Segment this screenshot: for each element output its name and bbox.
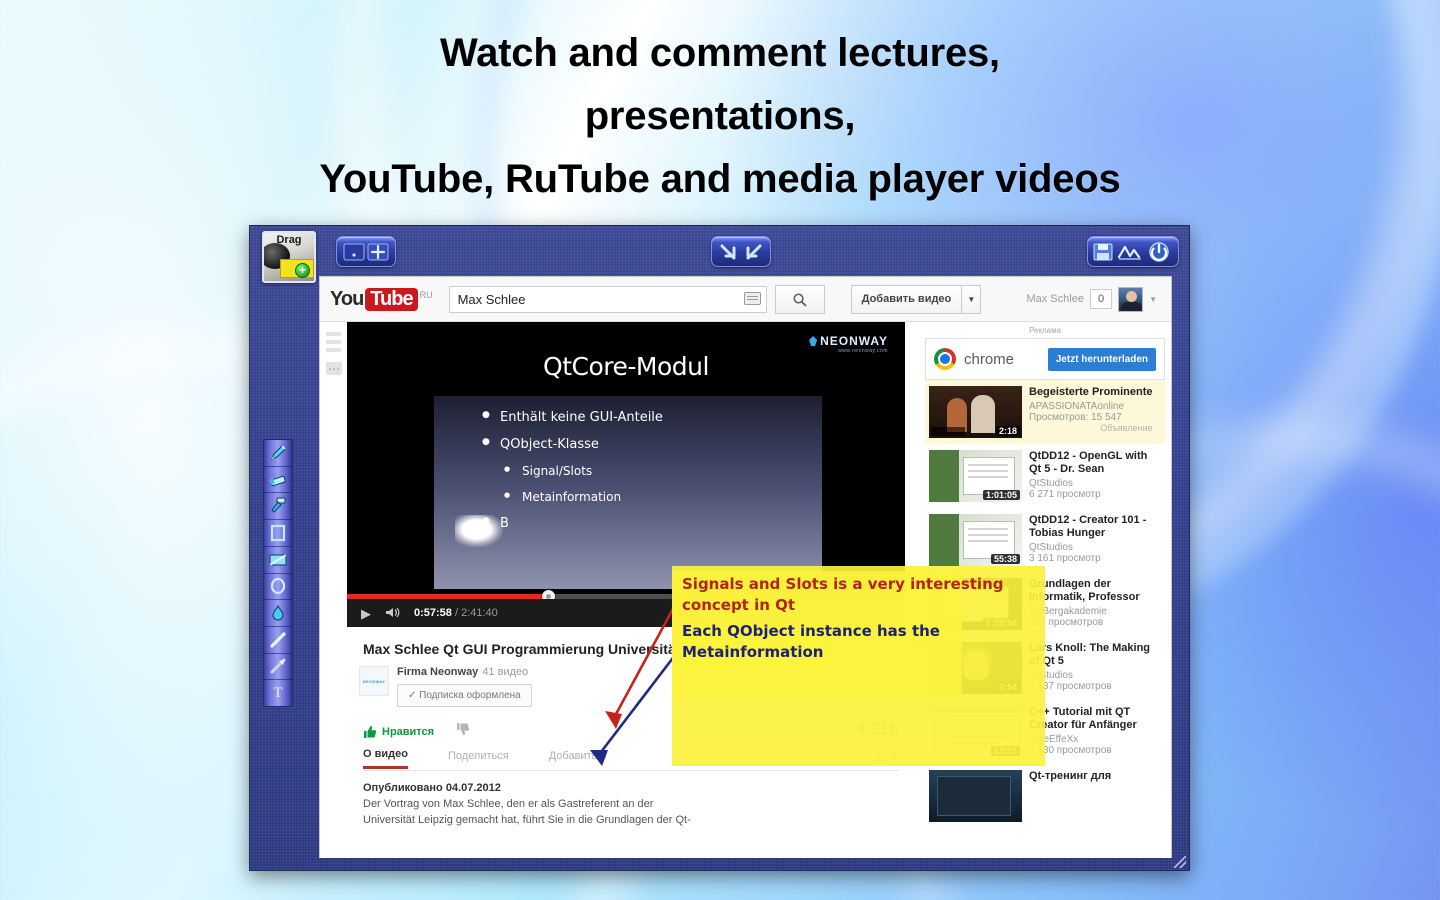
chrome-download-button[interactable]: Jetzt herunterladen xyxy=(1048,348,1156,371)
uploader-avatar[interactable]: NEONWAY xyxy=(359,666,389,696)
published-date: Опубликовано 04.07.2012 xyxy=(363,782,899,794)
highlighter-tool[interactable] xyxy=(264,467,292,494)
arrow-icon xyxy=(268,656,288,676)
chrome-ad[interactable]: chrome Jetzt herunterladen xyxy=(925,338,1165,380)
duration-badge: 13:53 xyxy=(991,746,1020,756)
list-item-title: Qt-тренинг для xyxy=(1029,770,1111,783)
list-item-views: Просмотров: 15 547 xyxy=(1029,412,1152,423)
uploader-row: NEONWAY Firma Neonway41 видео ✓ Подписка… xyxy=(359,666,915,707)
list-item-title: C++ Tutorial mit QT Creator für Anfänger xyxy=(1029,706,1161,732)
slide-panel: Enthält keine GUI-Anteile QObject-Klasse… xyxy=(434,396,822,589)
droplet-icon xyxy=(268,603,288,623)
uploader-name[interactable]: Firma Neonway xyxy=(397,666,478,678)
uploader-video-count: 41 видео xyxy=(482,666,528,678)
pencil-icon xyxy=(268,443,288,463)
arrow-tool[interactable] xyxy=(264,654,292,681)
youtube-body: NEONWAY www.neonway.com QtCore-Modul Ent… xyxy=(320,322,1171,858)
list-item-channel: QtStudios xyxy=(1029,670,1161,681)
list-item[interactable]: 2:54 Lars Knoll: The Making of Qt 5 QtSt… xyxy=(925,636,1165,700)
user-area: Max Schlee 0 ▼ xyxy=(1026,287,1161,312)
list-item[interactable]: Qt-тренинг для xyxy=(925,764,1165,828)
filled-rectangle-tool[interactable] xyxy=(264,547,292,574)
engagement-row: Нравится 4 216 xyxy=(363,719,899,739)
line-icon xyxy=(268,630,288,650)
list-item-channel: APASSIONATAonline xyxy=(1029,401,1152,412)
text-tool[interactable]: T xyxy=(264,680,292,706)
thumbnail xyxy=(929,770,1022,822)
thumbnail: 2:54 xyxy=(929,642,1022,694)
list-item-views: 6 271 просмотр xyxy=(1029,489,1161,500)
description-line-1: Der Vortrag von Max Schlee, den er als G… xyxy=(363,796,899,812)
video-player[interactable]: NEONWAY www.neonway.com QtCore-Modul Ent… xyxy=(347,322,905,627)
related-sidebar: Реклама chrome Jetzt herunterladen 2:18 … xyxy=(921,322,1171,858)
main-column: NEONWAY www.neonway.com QtCore-Modul Ent… xyxy=(347,322,921,858)
flag-icon[interactable]: ⚑ xyxy=(890,753,899,764)
list-item[interactable]: 1:25:50 Grundlagen der Informatik, Profe… xyxy=(925,572,1165,636)
view-count: 4 216 xyxy=(856,719,899,739)
list-item-title: QtDD12 - OpenGL with Qt 5 - Dr. Sean xyxy=(1029,450,1161,476)
pencil-tool[interactable] xyxy=(264,440,292,467)
list-item[interactable]: 1:01:05 QtDD12 - OpenGL with Qt 5 - Dr. … xyxy=(925,444,1165,508)
thumbnail: 2:18 xyxy=(929,386,1022,438)
list-item[interactable]: 2:18 Begeisterte Prominente APASSIONATAo… xyxy=(925,380,1165,444)
drag-thumbnail[interactable]: Drag + xyxy=(262,231,316,283)
collapse-arrows-icon xyxy=(718,242,764,262)
youtube-logo-tube: Tube xyxy=(365,288,417,311)
chevron-down-icon[interactable]: ▼ xyxy=(1149,295,1157,304)
tab-add-to[interactable]: Добавить в xyxy=(549,750,607,768)
neonway-name: NEONWAY xyxy=(820,334,888,348)
drag-label: Drag xyxy=(264,234,314,246)
video-frame: NEONWAY www.neonway.com QtCore-Modul Ent… xyxy=(347,322,905,627)
statistics-icon[interactable]: ▥ xyxy=(876,753,885,764)
grid-icon[interactable] xyxy=(326,362,342,375)
droplet-tool[interactable] xyxy=(264,600,292,627)
right-toolbar-icons xyxy=(1091,241,1175,263)
list-item-meta: Begeisterte Prominente APASSIONATAonline… xyxy=(1029,386,1152,438)
list-item-views: 3 161 просмотр xyxy=(1029,553,1161,564)
thumbnail: 55:38 xyxy=(929,514,1022,566)
application-window: Drag + xyxy=(249,225,1190,871)
fit-window-button[interactable] xyxy=(711,236,771,267)
add-icon: + xyxy=(295,263,310,278)
avatar[interactable] xyxy=(1118,287,1143,312)
list-item-views: 2 537 просмотров xyxy=(1029,681,1161,692)
slide-bullet: Metainformation xyxy=(504,490,663,504)
rail-bar xyxy=(326,332,341,336)
neonway-logo: NEONWAY xyxy=(809,334,888,348)
rail-bar xyxy=(326,340,341,344)
subscribe-button[interactable]: ✓ Подписка оформлена xyxy=(397,684,532,707)
duration-badge: 1:25:50 xyxy=(983,618,1020,628)
keyboard-icon[interactable] xyxy=(744,292,761,305)
list-item-channel: QtStudios xyxy=(1029,542,1161,553)
page-title-line-3: YouTube, RuTube and media player videos xyxy=(0,148,1440,211)
time-display: 0:57:58 / 2:41:40 xyxy=(414,607,498,619)
page-title-line-1: Watch and comment lectures, xyxy=(0,22,1440,85)
youtube-logo[interactable]: You Tube RU xyxy=(330,288,433,311)
thumbnail: 1:01:05 xyxy=(929,450,1022,502)
slide-bullet: B xyxy=(482,516,663,531)
list-item-meta: QtDD12 - OpenGL with Qt 5 - Dr. Sean QtS… xyxy=(1029,450,1161,502)
duration-badge: 2:18 xyxy=(996,426,1020,436)
volume-button[interactable] xyxy=(385,606,400,621)
list-item-meta: QtDD12 - Creator 101 - Tobias Hunger QtS… xyxy=(1029,514,1161,566)
search-wrapper xyxy=(449,286,767,313)
avatar-face xyxy=(1126,291,1137,302)
settings-icon xyxy=(1119,247,1141,259)
search-button[interactable] xyxy=(775,285,825,314)
filled-rectangle-icon xyxy=(268,550,288,570)
video-title: Max Schlee Qt GUI Programmierung Univers… xyxy=(363,641,915,657)
volume-icon xyxy=(385,606,400,619)
video-description: Опубликовано 04.07.2012 Der Vortrag von … xyxy=(363,782,899,828)
list-item-title: Grundlagen der Informatik, Professor xyxy=(1029,578,1161,604)
thumbnail: 13:53 xyxy=(929,706,1022,758)
duration-badge: 55:38 xyxy=(991,554,1020,564)
upload-group: Добавить видео ▼ xyxy=(851,285,982,314)
ellipse-icon xyxy=(268,576,288,596)
tab-about[interactable]: О видео xyxy=(363,748,408,769)
list-item-title: Begeisterte Prominente xyxy=(1029,386,1152,399)
neonway-mark xyxy=(809,336,817,346)
list-item-meta: Grundlagen der Informatik, Professor TUB… xyxy=(1029,578,1161,630)
upload-video-button[interactable]: Добавить видео xyxy=(851,285,962,314)
list-item[interactable]: 13:53 C++ Tutorial mit QT Creator für An… xyxy=(925,700,1165,764)
app-toolbar: Drag + xyxy=(250,226,1191,276)
thumbs-up-icon xyxy=(363,725,377,739)
total-time: 2:41:40 xyxy=(461,607,498,619)
youtube-logo-you: You xyxy=(330,288,363,311)
list-item-views: 2 530 просмотров xyxy=(1029,745,1161,756)
avatar-body xyxy=(1121,302,1142,312)
slide-bullet: QObject-Klasse xyxy=(482,437,663,452)
text-tool-glyph: T xyxy=(273,685,282,702)
list-item-channel: QtStudios xyxy=(1029,478,1161,489)
like-label: Нравится xyxy=(382,726,434,738)
slide-bullet: Signal/Slots xyxy=(504,464,663,478)
slide-bullet-list: Enthält keine GUI-Anteile QObject-Klasse… xyxy=(482,410,663,543)
duration-badge: 2:54 xyxy=(996,682,1020,692)
ellipse-tool[interactable] xyxy=(264,574,292,601)
thumbnail: 1:25:50 xyxy=(929,578,1022,630)
player-controls: ▶ 0:57:58 / 2:41:40 xyxy=(347,599,905,627)
page-title: Watch and comment lectures, presentation… xyxy=(0,22,1440,211)
open-document-icon xyxy=(343,242,389,262)
open-document-button[interactable] xyxy=(336,236,396,267)
page-title-line-2: presentations, xyxy=(0,85,1440,148)
uploader-name-line: Firma Neonway41 видео xyxy=(397,666,532,678)
line-tool[interactable] xyxy=(264,627,292,654)
description-line-2: Universität Leipzig gemacht hat, führt S… xyxy=(363,812,899,828)
highlighter-icon xyxy=(268,470,288,490)
play-button[interactable]: ▶ xyxy=(361,607,371,620)
list-item-title: QtDD12 - Creator 101 - Tobias Hunger xyxy=(1029,514,1161,540)
list-item-meta: C++ Tutorial mit QT Creator für Anfänger… xyxy=(1029,706,1161,758)
current-time: 0:57:58 xyxy=(414,607,452,619)
user-name: Max Schlee xyxy=(1026,293,1083,305)
list-item-meta: Lars Knoll: The Making of Qt 5 QtStudios… xyxy=(1029,642,1161,694)
youtube-header: You Tube RU Добавить видео ▼ Max Schlee xyxy=(320,277,1171,322)
right-toolbar-group[interactable] xyxy=(1087,236,1179,267)
duration-badge: 1:01:05 xyxy=(983,490,1020,500)
marker-icon xyxy=(268,496,288,516)
list-item-channel: TUBergakademie xyxy=(1029,606,1161,617)
rectangle-icon xyxy=(268,523,288,543)
resize-grip[interactable] xyxy=(1174,856,1186,868)
time-separator: / xyxy=(452,607,461,619)
chrome-icon xyxy=(934,348,956,370)
list-item[interactable]: 55:38 QtDD12 - Creator 101 - Tobias Hung… xyxy=(925,508,1165,572)
rail-bar xyxy=(326,348,341,352)
notification-count[interactable]: 0 xyxy=(1090,289,1112,309)
marker-tool[interactable] xyxy=(264,493,292,520)
search-icon xyxy=(792,292,807,307)
power-icon xyxy=(1150,243,1168,261)
slide-bullet: Enthält keine GUI-Anteile xyxy=(482,410,663,425)
rectangle-tool[interactable] xyxy=(264,520,292,547)
ratings-flag-group: ▥ ⚑ xyxy=(876,753,899,764)
list-item-ad-tag: Объявление xyxy=(1029,423,1152,433)
chrome-name: chrome xyxy=(964,351,1014,368)
list-item-title: Lars Knoll: The Making of Qt 5 xyxy=(1029,642,1161,668)
slide-page-number: 33 xyxy=(781,577,788,583)
drawing-tools-panel[interactable]: T xyxy=(263,439,293,707)
youtube-logo-country: RU xyxy=(420,290,433,300)
list-item-views: 213 просмотров xyxy=(1029,617,1161,628)
ad-label: Реклама xyxy=(925,326,1165,335)
youtube-page: You Tube RU Добавить видео ▼ Max Schlee xyxy=(319,276,1172,858)
video-tabs: О видео Поделиться Добавить в ▥ ⚑ xyxy=(363,747,899,771)
uploader-info: Firma Neonway41 видео ✓ Подписка оформле… xyxy=(397,666,532,707)
upload-caret-icon[interactable]: ▼ xyxy=(961,285,981,314)
left-rail[interactable] xyxy=(320,322,347,858)
tab-share[interactable]: Поделиться xyxy=(448,750,509,768)
annotation-eraser-blob xyxy=(455,515,503,547)
search-input[interactable] xyxy=(449,286,767,313)
slide-title: QtCore-Modul xyxy=(347,352,905,381)
dislike-button[interactable] xyxy=(456,722,470,739)
description-text: Der Vortrag von Max Schlee, den er als G… xyxy=(363,796,899,828)
like-button[interactable]: Нравится xyxy=(363,725,434,739)
save-icon xyxy=(1094,244,1112,260)
thumbs-down-icon xyxy=(456,722,470,736)
list-item-meta: Qt-тренинг для xyxy=(1029,770,1111,822)
list-item-channel: SideEffeXx xyxy=(1029,734,1161,745)
